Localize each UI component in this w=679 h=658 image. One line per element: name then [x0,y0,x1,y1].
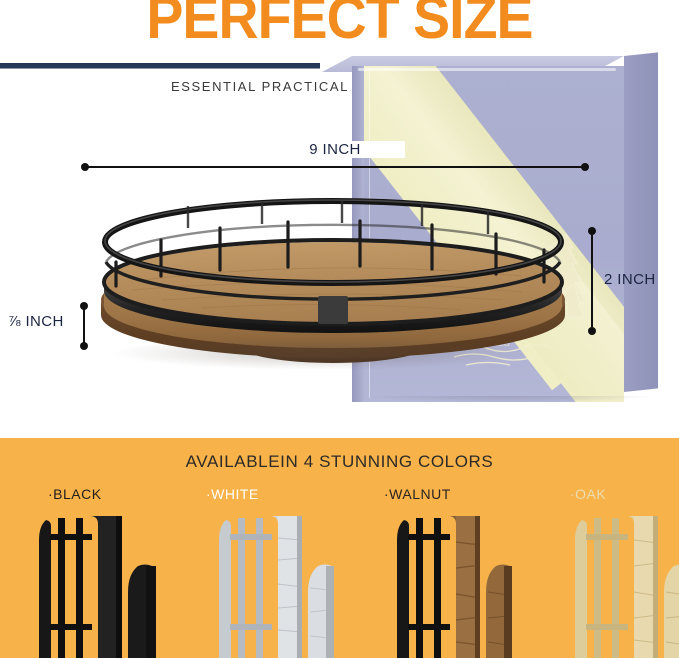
page-title: PERFECT SIZE [20,0,658,50]
variant-image-oak[interactable] [556,508,679,658]
height-dim-dot-bottom [588,327,596,335]
infographic-root: PERFECT SIZE ESSENTIAL PRACTICAL [0,0,679,658]
thickness-dimension-line [83,306,85,346]
variant-image-black[interactable] [20,508,180,658]
width-dimension-label: 9 INCH [265,141,405,158]
thickness-dimension-label: ⅞ INCH [8,313,64,330]
height-dimension-label: 2 INCH [604,271,656,288]
box-side-face [624,52,658,392]
swatch-label-oak: ·OAK [570,486,606,502]
thickness-dim-dot-top [80,302,88,310]
width-dim-dot-right [581,163,589,171]
product-shadow [110,336,530,370]
swatch-label-black: ·BLACK [48,486,102,502]
color-variants-section: AVAILABLEIN 4 STUNNING COLORS ·BLACK ·WH… [0,438,679,658]
box-shadow [358,396,658,402]
colors-section-heading: AVAILABLEIN 4 STUNNING COLORS [0,452,679,472]
box-top-highlight [358,68,616,71]
title-divider [0,63,320,69]
thickness-dim-dot-bottom [80,342,88,350]
swatch-label-walnut: ·WALNUT [384,486,451,502]
swatch-label-white: ·WHITE [206,486,259,502]
variant-image-white[interactable] [200,508,360,658]
width-dim-dot-left [81,163,89,171]
height-dimension-line [591,231,593,331]
width-dimension-line [84,166,586,168]
height-dim-dot-top [588,227,596,235]
variant-image-walnut[interactable] [378,508,538,658]
hero-section: PERFECT SIZE ESSENTIAL PRACTICAL [0,0,679,438]
lazy-susan-product-image [92,196,574,368]
